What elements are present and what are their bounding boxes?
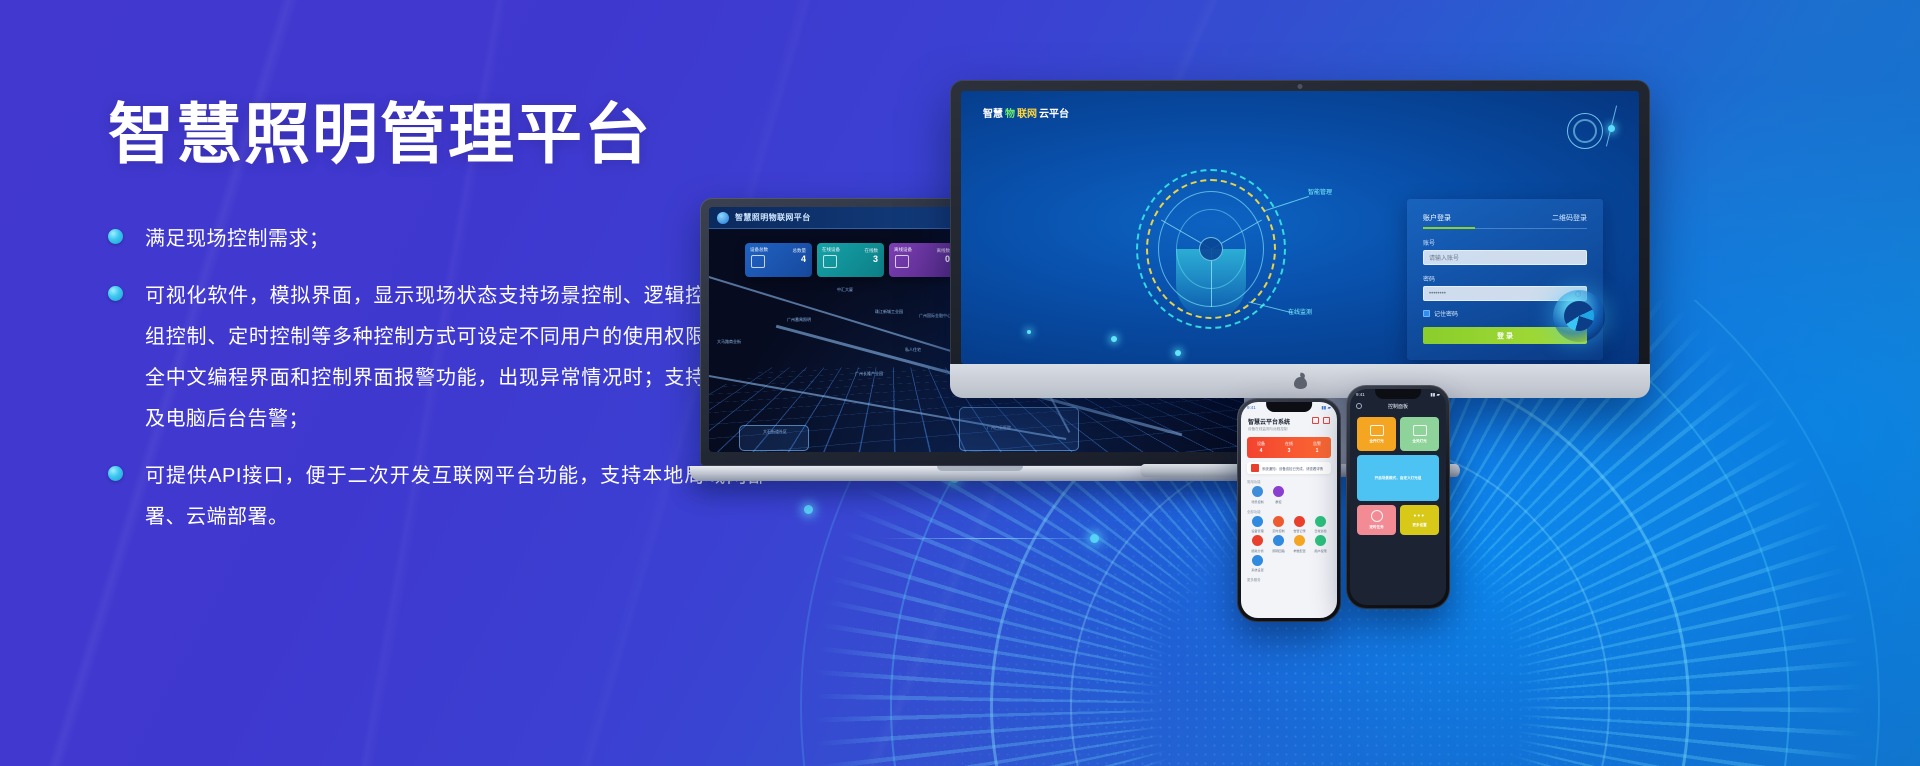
status-indicators: ▮▮ ▰	[1321, 405, 1331, 411]
app-tile[interactable]: 设备管理	[1247, 516, 1268, 534]
globe-icon	[1553, 290, 1605, 342]
section-label: 全部功能	[1247, 509, 1331, 514]
logo-part-3: 联网	[1017, 105, 1037, 120]
phone-stat-strip: 设备 4 在线 3 告警 1	[1247, 437, 1331, 458]
feature-list: 满足现场控制需求； 可视化软件，模拟界面，显示现场状态支持场景控制、逻辑控制、群…	[108, 219, 768, 538]
stat-card[interactable]: 离线设备 离线数 0	[889, 243, 956, 277]
app-tile-label: 群控	[1275, 499, 1281, 504]
back-icon[interactable]	[1356, 403, 1362, 409]
app-tile[interactable]: 能耗分析	[1247, 535, 1268, 553]
stat-item[interactable]: 告警 1	[1303, 437, 1331, 458]
list-item-text: 可视化软件，模拟界面，显示现场状态支持场景控制、逻辑控制、群组控制、定时控制等多…	[145, 276, 768, 440]
app-tile-label: 定时控制	[1272, 528, 1284, 533]
offline-icon	[895, 255, 909, 268]
group-control-icon	[1273, 486, 1284, 497]
megaphone-icon	[1251, 464, 1259, 472]
app-tile[interactable]: 系统设置	[1247, 555, 1268, 573]
list-item: 可视化软件，模拟界面，显示现场状态支持场景控制、逻辑控制、群组控制、定时控制等多…	[108, 276, 768, 440]
apple-logo-icon	[1294, 374, 1307, 389]
phone-control-screen: 9:41 ▮▮ ▰ 控制面板 全开灯光 全关灯光	[1350, 389, 1446, 605]
stat-label: 在线	[1285, 441, 1293, 447]
energy-icon	[1252, 535, 1263, 546]
control-tile[interactable]: 全开灯光	[1357, 417, 1396, 451]
app-tile[interactable]: 群控	[1268, 486, 1289, 504]
radar-callout-top: 智能管理	[1308, 187, 1332, 196]
app-logo-icon	[717, 212, 729, 224]
notice-text: 系统通知：设备巡检已完成，请查看详情	[1262, 466, 1323, 471]
app-tile[interactable]: 定时控制	[1268, 516, 1289, 534]
phone-header-actions	[1312, 417, 1330, 424]
app-tile-label: 设备管理	[1251, 528, 1263, 533]
monitor-logo: 智慧 物 联网 云平台	[983, 105, 1069, 120]
map-label: 广州国际金融中心	[919, 313, 951, 319]
map-label: 珠江新城工业园	[875, 309, 903, 315]
map-label: 广州长隆产业园	[855, 371, 883, 377]
hud-node-icon	[1175, 350, 1181, 356]
control-tile[interactable]: 全关灯光	[1400, 417, 1439, 451]
bullet-dot-icon	[108, 229, 123, 244]
app-tile-label: 能耗分析	[1251, 548, 1263, 553]
app-tile-label: 用户权限	[1314, 548, 1326, 553]
all-functions-section: 全部功能 设备管理 定时控制 告警记录 日常巡检 能耗分析 照明回路 参数配置 …	[1247, 509, 1331, 573]
app-tile-label: 参数配置	[1293, 548, 1305, 553]
settings-icon	[1252, 555, 1263, 566]
page-title: 智慧照明管理平台	[108, 100, 768, 169]
login-tabs: 账户登录 二维码登录	[1423, 213, 1587, 229]
app-tile[interactable]: 照明回路	[1268, 535, 1289, 553]
map-label: 中汇大厦	[837, 287, 853, 293]
hud-node-icon	[1027, 330, 1031, 334]
hud-node-icon	[1111, 336, 1117, 342]
online-icon	[823, 255, 837, 268]
section-label: 常用功能	[1247, 479, 1331, 484]
stat-value: 1	[1316, 448, 1319, 454]
inspection-icon	[1315, 516, 1326, 527]
bullet-dot-icon	[108, 286, 123, 301]
control-tile-label: 定时任务	[1369, 525, 1383, 530]
control-tile-label: 全开灯光	[1369, 439, 1383, 444]
phone-notch	[1375, 389, 1421, 399]
checkbox-icon[interactable]	[1423, 310, 1430, 317]
list-item: 满足现场控制需求；	[108, 219, 768, 260]
app-tile[interactable]: 告警记录	[1289, 516, 1310, 534]
app-tile-label: 告警记录	[1293, 528, 1305, 533]
control-tile-label: 开启场景模式，自定义灯光组	[1375, 476, 1422, 481]
map-label: 大马路商业街	[717, 339, 741, 345]
device-icon	[751, 255, 765, 268]
stat-card[interactable]: 在线设备 在线数 3	[817, 243, 884, 277]
stat-item[interactable]: 设备 4	[1247, 437, 1275, 458]
message-icon[interactable]	[1312, 417, 1319, 424]
scene-control-icon	[1252, 486, 1263, 497]
remember-label: 记住密码	[1434, 309, 1458, 318]
map-label: 广州番禺照明	[787, 317, 811, 323]
all-functions-grid: 设备管理 定时控制 告警记录 日常巡检 能耗分析 照明回路 参数配置 用户权限 …	[1247, 516, 1331, 573]
radar-callout-bottom: 在线监测	[1288, 307, 1312, 316]
stat-card-value: 4	[801, 254, 806, 264]
params-icon	[1294, 535, 1305, 546]
monitor-camera-icon	[1298, 84, 1303, 89]
password-value: ••••••••	[1429, 291, 1446, 297]
clock-icon	[1371, 510, 1383, 522]
alarm-log-icon	[1294, 516, 1305, 527]
app-tile-label: 系统设置	[1251, 567, 1263, 572]
app-tile-label: 日常巡检	[1314, 528, 1326, 533]
common-functions-section: 常用功能 场景控制 群控	[1247, 479, 1331, 504]
control-tiles: 全开灯光 全关灯光 开启场景模式，自定义灯光组 定时任务 •••	[1350, 412, 1446, 540]
more-icon: •••	[1414, 513, 1426, 520]
logo-part-1: 智慧	[983, 105, 1003, 120]
control-tile-label: 更多设置	[1412, 523, 1426, 528]
lamp-on-icon	[1370, 425, 1384, 436]
monitor-screen: 智慧 物 联网 云平台	[961, 91, 1639, 364]
map-label: 大石街道社区	[763, 429, 787, 435]
status-time: 9:41	[1356, 392, 1365, 397]
stat-label: 设备	[1257, 441, 1265, 447]
monitor-chin	[950, 364, 1650, 398]
circuit-icon	[1273, 535, 1284, 546]
hero-copy: 智慧照明管理平台 满足现场控制需求； 可视化软件，模拟界面，显示现场状态支持场景…	[108, 100, 768, 554]
phone-control-titlebar: 控制面板	[1350, 400, 1446, 412]
tab-account-login[interactable]: 账户登录	[1423, 213, 1451, 223]
app-tile[interactable]: 日常巡检	[1310, 516, 1331, 534]
control-tile[interactable]: 定时任务	[1357, 505, 1396, 535]
control-tile[interactable]: 开启场景模式，自定义灯光组	[1357, 455, 1439, 501]
more-services-section: 更多服务	[1247, 577, 1331, 582]
password-label: 密码	[1423, 274, 1587, 283]
radar-hub	[1199, 237, 1223, 261]
stat-card-value: 3	[873, 254, 878, 264]
phone-control-title: 控制面板	[1388, 403, 1408, 410]
stat-card[interactable]: 设备总数 总数量 4	[745, 243, 812, 277]
tab-qrcode-login[interactable]: 二维码登录	[1552, 213, 1587, 223]
logo-part-4: 云平台	[1039, 105, 1069, 120]
stat-value: 3	[1288, 448, 1291, 454]
app-tile[interactable]: 用户权限	[1310, 535, 1331, 553]
phone-app-title: 智慧云平台系统	[1248, 417, 1290, 426]
bullet-dot-icon	[108, 466, 123, 481]
phone-mockup-control: 9:41 ▮▮ ▰ 控制面板 全开灯光 全关灯光	[1346, 385, 1450, 609]
device-mockups: 智慧照明物联网平台 区域 搜索 类型	[700, 60, 1920, 680]
control-tile[interactable]: ••• 更多设置	[1400, 505, 1439, 535]
control-tile-label: 全关灯光	[1412, 439, 1426, 444]
status-indicators: ▮▮ ▰	[1430, 392, 1440, 398]
username-label: 账号	[1423, 238, 1587, 247]
app-tile-label: 场景控制	[1251, 499, 1263, 504]
timer-icon	[1273, 516, 1284, 527]
radar-graphic: 智能管理 在线监测	[1136, 169, 1286, 329]
phone-app-screen: 9:41 ▮▮ ▰ 智慧云平台系统 设备在线监测与远程控制 设备	[1241, 402, 1337, 618]
permission-icon	[1315, 535, 1326, 546]
app-tile[interactable]: 场景控制	[1247, 486, 1268, 504]
username-field-group: 账号 请输入账号	[1423, 238, 1587, 265]
monitor-bezel: 智慧 物 联网 云平台	[950, 80, 1650, 398]
map-label: 私人住宅	[905, 347, 921, 353]
lamp-off-icon	[1413, 425, 1427, 436]
list-item-text: 可提供API接口，便于二次开发互联网平台功能，支持本地局域网部署、云端部署。	[145, 456, 768, 538]
stat-label: 告警	[1313, 441, 1321, 447]
common-functions-grid: 场景控制 群控	[1247, 486, 1331, 504]
stat-item[interactable]: 在线 3	[1275, 437, 1303, 458]
app-tile[interactable]: 参数配置	[1289, 535, 1310, 553]
phone-notch	[1266, 402, 1312, 412]
phone-mockup-app: 9:41 ▮▮ ▰ 智慧云平台系统 设备在线监测与远程控制 设备	[1237, 398, 1341, 622]
phone-app-subtitle: 设备在线监测与远程控制	[1248, 427, 1290, 432]
hud-corner-decoration	[1561, 103, 1617, 159]
phone-app-header: 智慧云平台系统 设备在线监测与远程控制	[1241, 413, 1337, 434]
scan-icon[interactable]	[1323, 417, 1330, 424]
app-tile-label: 照明回路	[1272, 548, 1284, 553]
status-time: 9:41	[1247, 405, 1256, 410]
device-management-icon	[1252, 516, 1263, 527]
list-item-text: 满足现场控制需求；	[145, 219, 330, 260]
stat-value: 4	[1260, 448, 1263, 454]
list-item: 可提供API接口，便于二次开发互联网平台功能，支持本地局域网部署、云端部署。	[108, 456, 768, 538]
hud-node-icon	[1608, 125, 1615, 132]
notice-banner[interactable]: 系统通知：设备巡检已完成，请查看详情	[1247, 462, 1331, 474]
hero-banner: 智慧照明管理平台 满足现场控制需求； 可视化软件，模拟界面，显示现场状态支持场景…	[0, 0, 1920, 766]
section-label: 更多服务	[1247, 577, 1331, 582]
logo-part-2: 物	[1005, 105, 1015, 120]
laptop-app-title: 智慧照明物联网平台	[735, 212, 811, 223]
username-input[interactable]: 请输入账号	[1423, 250, 1587, 265]
